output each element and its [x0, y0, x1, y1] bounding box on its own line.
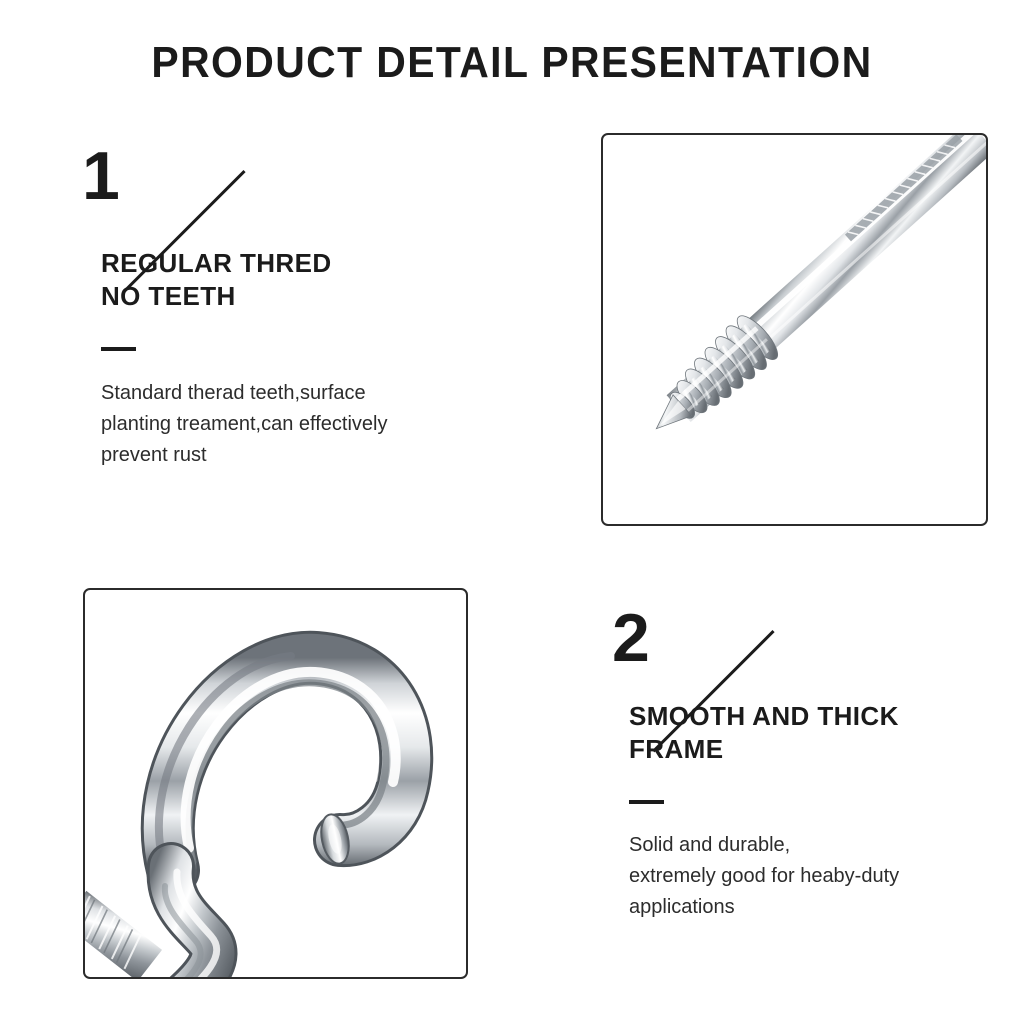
feature-2-number: 2: [612, 604, 650, 672]
screw-photo-alt: close-up of chrome screw threads and poi…: [0, 0, 1, 1]
screw-photo-frame: [601, 133, 988, 526]
feature-2-rule: [629, 800, 664, 804]
feature-block-1: 1 REGULAR THRED NO TEETH Standard therad…: [60, 140, 530, 480]
feature-1-number: 1: [82, 142, 120, 210]
hook-frame-photo: [85, 590, 466, 977]
feature-2-heading-line1: SMOOTH AND THICK: [629, 700, 899, 733]
product-detail-page: PRODUCT DETAIL PRESENTATION 1 REGULAR TH…: [0, 0, 1024, 1024]
hook-photo-frame: [83, 588, 468, 979]
feature-block-2: 2 SMOOTH AND THICK FRAME Solid and durab…: [588, 600, 1008, 930]
feature-2-body-text: Solid and durable, extremely good for he…: [629, 830, 1009, 923]
feature-1-rule: [101, 347, 136, 351]
feature-1-heading-line2: NO TEETH: [101, 280, 236, 313]
page-title: PRODUCT DETAIL PRESENTATION: [36, 36, 988, 90]
feature-2-heading-line2: FRAME: [629, 733, 723, 766]
feature-1-heading-line1: REGULAR THRED: [101, 247, 332, 280]
hook-photo-alt: close-up of chrome cup hook open curved …: [0, 0, 1, 1]
screw-thread-photo: [603, 135, 986, 524]
feature-1-body-text: Standard therad teeth,surface planting t…: [101, 378, 521, 471]
